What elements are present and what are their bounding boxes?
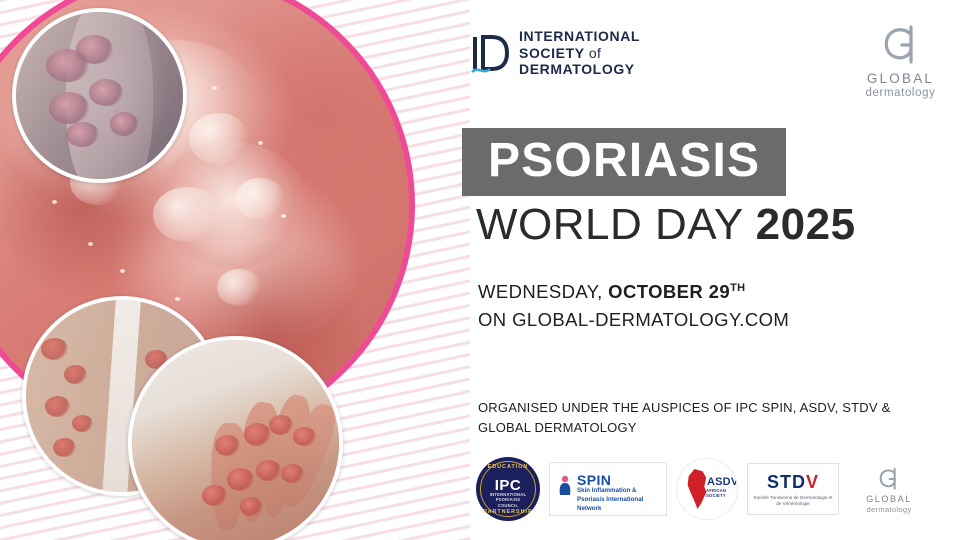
scale-patch xyxy=(189,113,249,163)
psoriasis-on-hand-photo xyxy=(128,336,343,540)
gd-monogram-icon xyxy=(878,22,924,68)
partner-logo-asdv: ASDV AFRICAN SOCIETY xyxy=(676,458,738,520)
lesion-spot xyxy=(202,485,227,506)
gd-line-1: GLOBAL xyxy=(853,71,948,86)
poster-content-column: INTERNATIONAL SOCIETY of DERMATOLOGY GLO… xyxy=(462,0,960,540)
poster-title-band: PSORIASIS xyxy=(462,128,786,196)
lesion-spot xyxy=(240,497,263,516)
spin-description: Skin Inflammation & Psoriasis Internatio… xyxy=(577,487,662,514)
lesion-spot xyxy=(256,460,281,481)
stdv-abbr-a: STD xyxy=(767,472,806,492)
ipc-arc-bottom: PARTNERSHIP xyxy=(476,509,540,515)
isd-line-3: DERMATOLOGY xyxy=(519,61,640,78)
event-date: WEDNESDAY, OCTOBER 29TH xyxy=(478,281,746,303)
global-dermatology-small-logo: GLOBAL dermatology xyxy=(848,460,930,518)
scale-patch xyxy=(217,269,263,306)
isd-line-2: SOCIETY of xyxy=(519,45,640,62)
gd-small-line-1: GLOBAL xyxy=(848,494,930,504)
event-website[interactable]: ON GLOBAL-DERMATOLOGY.COM xyxy=(478,309,789,331)
lesion-spot xyxy=(89,79,122,106)
lesion-spot xyxy=(41,338,68,359)
isd-line-1: INTERNATIONAL xyxy=(519,28,640,45)
international-society-of-dermatology-logo: INTERNATIONAL SOCIETY of DERMATOLOGY xyxy=(470,28,640,78)
lesion-spot xyxy=(76,35,113,63)
ipc-badge-icon: EDUCATION IPC INTERNATIONAL PSORIASIS CO… xyxy=(476,457,540,521)
date-main: OCTOBER 29 xyxy=(608,281,730,302)
partner-logo-stdv: STDV Société Tunisienne de Dermatologie … xyxy=(747,458,839,520)
subtitle-year: 2025 xyxy=(756,200,856,249)
partner-logo-spin: SPIN Skin Inflammation & Psoriasis Inter… xyxy=(549,458,667,520)
isd-line-2-a: SOCIETY xyxy=(519,45,584,61)
isd-monogram-icon xyxy=(470,31,510,75)
lesion-spot xyxy=(244,423,271,446)
scale-patch xyxy=(235,178,285,219)
isd-line-2-b: of xyxy=(589,45,601,61)
lesion-spot xyxy=(49,92,89,124)
asdv-badge-icon: ASDV AFRICAN SOCIETY xyxy=(676,458,738,520)
gd-line-2: dermatology xyxy=(853,87,948,99)
psoriasis-world-day-poster: INTERNATIONAL SOCIETY of DERMATOLOGY GLO… xyxy=(0,0,960,540)
scale-patch xyxy=(153,187,222,242)
gd-monogram-icon-small xyxy=(876,466,902,492)
date-prefix: WEDNESDAY, xyxy=(478,281,603,302)
partner-logo-ipc: EDUCATION IPC INTERNATIONAL PSORIASIS CO… xyxy=(476,458,540,520)
isd-wordmark: INTERNATIONAL SOCIETY of DERMATOLOGY xyxy=(519,28,640,78)
top-logo-row: INTERNATIONAL SOCIETY of DERMATOLOGY GLO… xyxy=(462,14,960,100)
stdv-abbreviation: STDV xyxy=(748,472,838,493)
lesion-spot xyxy=(281,464,304,483)
spin-abbreviation: SPIN xyxy=(577,472,611,488)
spin-logo-box: SPIN Skin Inflammation & Psoriasis Inter… xyxy=(549,462,667,516)
global-dermatology-logo: GLOBAL dermatology xyxy=(853,22,948,99)
stdv-abbr-b: V xyxy=(806,472,819,492)
poster-subtitle: WORLD DAY 2025 xyxy=(476,200,856,250)
partner-logo-global-dermatology: GLOBAL dermatology xyxy=(848,458,930,520)
ipc-subtitle: INTERNATIONAL PSORIASIS COUNCIL xyxy=(476,492,540,508)
stdv-subtitle: Société Tunisienne de Dermatologie et de… xyxy=(752,495,834,508)
asdv-abbreviation: ASDV xyxy=(707,476,738,488)
page-title: PSORIASIS xyxy=(488,137,760,185)
gd-small-line-2: dermatology xyxy=(848,505,930,514)
auspices-text: ORGANISED UNDER THE AUSPICES OF IPC SPIN… xyxy=(478,398,918,438)
lesion-spot xyxy=(293,427,316,446)
stdv-logo-box: STDV Société Tunisienne de Dermatologie … xyxy=(747,463,839,515)
partner-logo-row: EDUCATION IPC INTERNATIONAL PSORIASIS CO… xyxy=(476,458,930,520)
subtitle-main: WORLD DAY xyxy=(476,200,743,249)
lesion-spot xyxy=(110,112,138,135)
lesion-spot xyxy=(215,435,240,456)
date-suffix: TH xyxy=(730,282,745,294)
ipc-arc-top: EDUCATION xyxy=(476,464,540,470)
psoriasis-lesions-closeup-photo xyxy=(12,8,187,183)
spin-figure-icon xyxy=(556,475,574,497)
asdv-subtitle: AFRICAN SOCIETY xyxy=(706,488,737,498)
